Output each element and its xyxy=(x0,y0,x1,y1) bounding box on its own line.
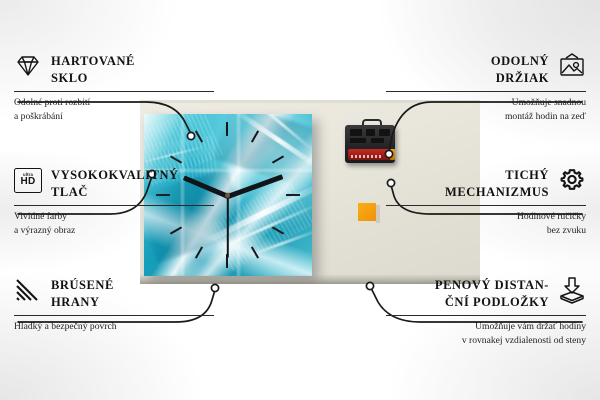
mechanism-body xyxy=(345,125,395,163)
battery-terminal xyxy=(390,149,395,160)
ultra-hd-icon: ultra HD xyxy=(14,166,42,194)
polished-edge-icon xyxy=(14,276,42,304)
feature-description: Vividné farby a výrazný obraz xyxy=(14,210,214,237)
feature-description: Odolné proti rozbití a poškrábání xyxy=(14,96,214,123)
feature-polished-edges: BRÚSENÉ HRANY Hladký a bezpečný povrch xyxy=(14,276,214,334)
gear-icon xyxy=(558,166,586,194)
foam-pad-icon xyxy=(558,276,586,304)
infographic-canvas: HARTOVANÉ SKLO Odolné proti rozbití a po… xyxy=(0,0,600,400)
feature-description: Umožňuje vám držať hodiny v rovnakej vzd… xyxy=(386,320,586,347)
battery-label xyxy=(351,155,381,158)
feature-divider xyxy=(14,315,214,316)
feature-title: BRÚSENÉ HRANY xyxy=(51,276,114,310)
feature-high-quality-print: ultra HD VYSOKOKVALITNÝ TLAČ Vividné far… xyxy=(14,166,214,237)
feature-divider xyxy=(14,91,214,92)
diamond-icon xyxy=(14,52,42,80)
picture-frame-icon xyxy=(558,52,586,80)
feature-description: Hladký a bezpečný povrch xyxy=(14,320,214,334)
feature-title: TICHÝ MECHANIZMUS xyxy=(445,166,549,200)
feature-title: PENOVÝ DISTAN- ČNÍ PODLOŽKY xyxy=(435,276,549,310)
feature-hardened-glass: HARTOVANÉ SKLO Odolné proti rozbití a po… xyxy=(14,52,214,123)
clock-mechanism xyxy=(345,119,395,163)
feature-silent-mechanism: TICHÝ MECHANIZMUS Hodinové ručičky bez z… xyxy=(386,166,586,237)
foam-pad-side xyxy=(376,205,380,223)
feature-description: Umožňuje snadnou montáž hodin na zeď xyxy=(386,96,586,123)
feature-description: Hodinové ručičky bez zvuku xyxy=(386,210,586,237)
feature-durable-hanger: ODOLNÝ DRŽIAK Umožňuje snadnou montáž ho… xyxy=(386,52,586,123)
feature-title: ODOLNÝ DRŽIAK xyxy=(491,52,549,86)
feature-divider xyxy=(386,205,586,206)
feature-title: HARTOVANÉ SKLO xyxy=(51,52,135,86)
feature-foam-spacers: PENOVÝ DISTAN- ČNÍ PODLOŽKY Umožňuje vám… xyxy=(386,276,586,347)
feature-divider xyxy=(14,205,214,206)
feature-title: VYSOKOKVALITNÝ TLAČ xyxy=(51,166,179,200)
ultra-hd-icon-main-label: HD xyxy=(20,177,35,187)
foam-pad-top xyxy=(358,203,376,221)
feature-divider xyxy=(386,91,586,92)
feature-divider xyxy=(386,315,586,316)
foam-spacer-pad xyxy=(358,203,380,223)
